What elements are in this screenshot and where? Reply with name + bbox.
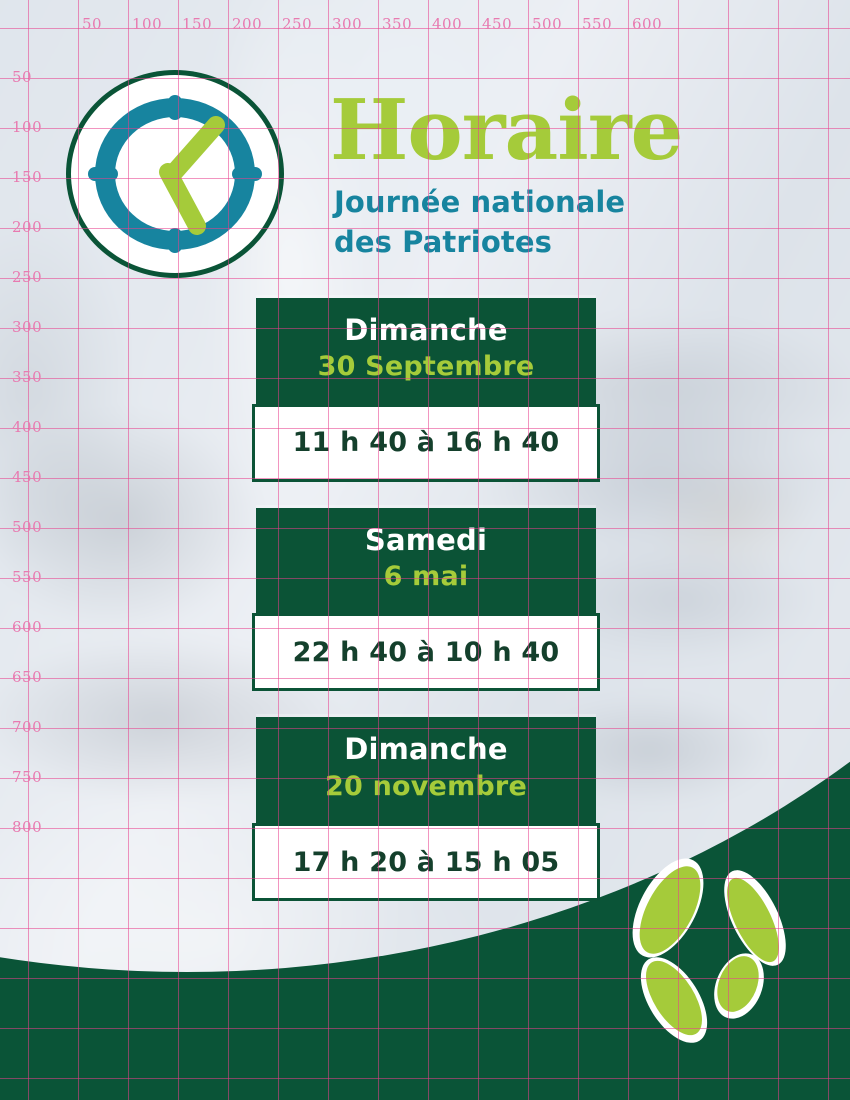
grid-tick-y-650: 650 bbox=[12, 668, 42, 686]
grid-tick-y-600: 600 bbox=[12, 618, 42, 636]
schedule-card-header: Dimanche 20 novembre bbox=[256, 717, 596, 823]
schedule-card-day: Samedi bbox=[266, 524, 586, 557]
schedule-card-body: 17 h 20 à 15 h 05 bbox=[252, 823, 600, 901]
grid-tick-y-800: 800 bbox=[12, 818, 42, 836]
butterfly-icon bbox=[612, 848, 812, 1058]
grid-tick-y-500: 500 bbox=[12, 518, 42, 536]
schedule-card-date: 20 novembre bbox=[266, 771, 586, 803]
grid-tick-y-100: 100 bbox=[12, 118, 42, 136]
schedule-card-body: 11 h 40 à 16 h 40 bbox=[252, 404, 600, 482]
grid-tick-x-400: 400 bbox=[432, 15, 462, 33]
header-text-block: Horaire Journée nationale des Patriotes bbox=[330, 92, 800, 262]
schedule-card-body: 22 h 40 à 10 h 40 bbox=[252, 613, 600, 691]
butterfly-wing-bottom-left bbox=[627, 946, 720, 1054]
grid-tick-y-250: 250 bbox=[12, 268, 42, 286]
grid-tick-x-500: 500 bbox=[532, 15, 562, 33]
grid-tick-y-350: 350 bbox=[12, 368, 42, 386]
bottom-bar bbox=[0, 1078, 850, 1100]
schedule-card-time: 11 h 40 à 16 h 40 bbox=[293, 427, 560, 458]
clock-tick-12-icon bbox=[168, 95, 182, 120]
grid-tick-x-550: 550 bbox=[582, 15, 612, 33]
schedule-card-header: Dimanche 30 Septembre bbox=[256, 298, 596, 404]
grid-tick-y-50: 50 bbox=[12, 68, 32, 86]
clock-tick-9-icon bbox=[88, 167, 118, 181]
schedule-card-time: 17 h 20 à 15 h 05 bbox=[293, 847, 560, 878]
page-subtitle: Journée nationale des Patriotes bbox=[334, 182, 800, 262]
schedule-card-header: Samedi 6 mai bbox=[256, 508, 596, 614]
clock-tick-3-icon bbox=[232, 167, 262, 181]
grid-tick-y-300: 300 bbox=[12, 318, 42, 336]
clock-logo bbox=[64, 68, 286, 280]
grid-tick-x-350: 350 bbox=[382, 15, 412, 33]
grid-tick-x-450: 450 bbox=[482, 15, 512, 33]
grid-tick-x-200: 200 bbox=[232, 15, 262, 33]
grid-tick-x-100: 100 bbox=[132, 15, 162, 33]
schedule-card: Samedi 6 mai 22 h 40 à 10 h 40 bbox=[256, 508, 596, 692]
schedule-card: Dimanche 20 novembre 17 h 20 à 15 h 05 bbox=[256, 717, 596, 901]
page-subtitle-line-2: des Patriotes bbox=[334, 222, 800, 262]
schedule-card-day: Dimanche bbox=[266, 733, 586, 766]
grid-tick-y-450: 450 bbox=[12, 468, 42, 486]
butterfly-wing-top-left bbox=[618, 848, 718, 969]
grid-tick-x-150: 150 bbox=[182, 15, 212, 33]
grid-tick-y-700: 700 bbox=[12, 718, 42, 736]
page-subtitle-line-1: Journée nationale bbox=[334, 182, 800, 222]
schedule-card-day: Dimanche bbox=[266, 314, 586, 347]
schedule-card-list: Dimanche 30 Septembre 11 h 40 à 16 h 40 … bbox=[256, 298, 596, 901]
page-title: Horaire bbox=[330, 92, 800, 168]
grid-tick-x-250: 250 bbox=[282, 15, 312, 33]
grid-tick-y-550: 550 bbox=[12, 568, 42, 586]
schedule-card-time: 22 h 40 à 10 h 40 bbox=[293, 637, 560, 668]
schedule-card-date: 30 Septembre bbox=[266, 351, 586, 383]
grid-tick-x-300: 300 bbox=[332, 15, 362, 33]
grid-tick-x-600: 600 bbox=[632, 15, 662, 33]
grid-tick-y-400: 400 bbox=[12, 418, 42, 436]
grid-tick-x-50: 50 bbox=[82, 15, 102, 33]
grid-tick-y-750: 750 bbox=[12, 768, 42, 786]
grid-tick-y-150: 150 bbox=[12, 168, 42, 186]
schedule-card: Dimanche 30 Septembre 11 h 40 à 16 h 40 bbox=[256, 298, 596, 482]
clock-tick-6-icon bbox=[168, 228, 182, 253]
poster-canvas: Horaire Journée nationale des Patriotes … bbox=[0, 0, 850, 1100]
grid-tick-y-200: 200 bbox=[12, 218, 42, 236]
schedule-card-date: 6 mai bbox=[266, 561, 586, 593]
